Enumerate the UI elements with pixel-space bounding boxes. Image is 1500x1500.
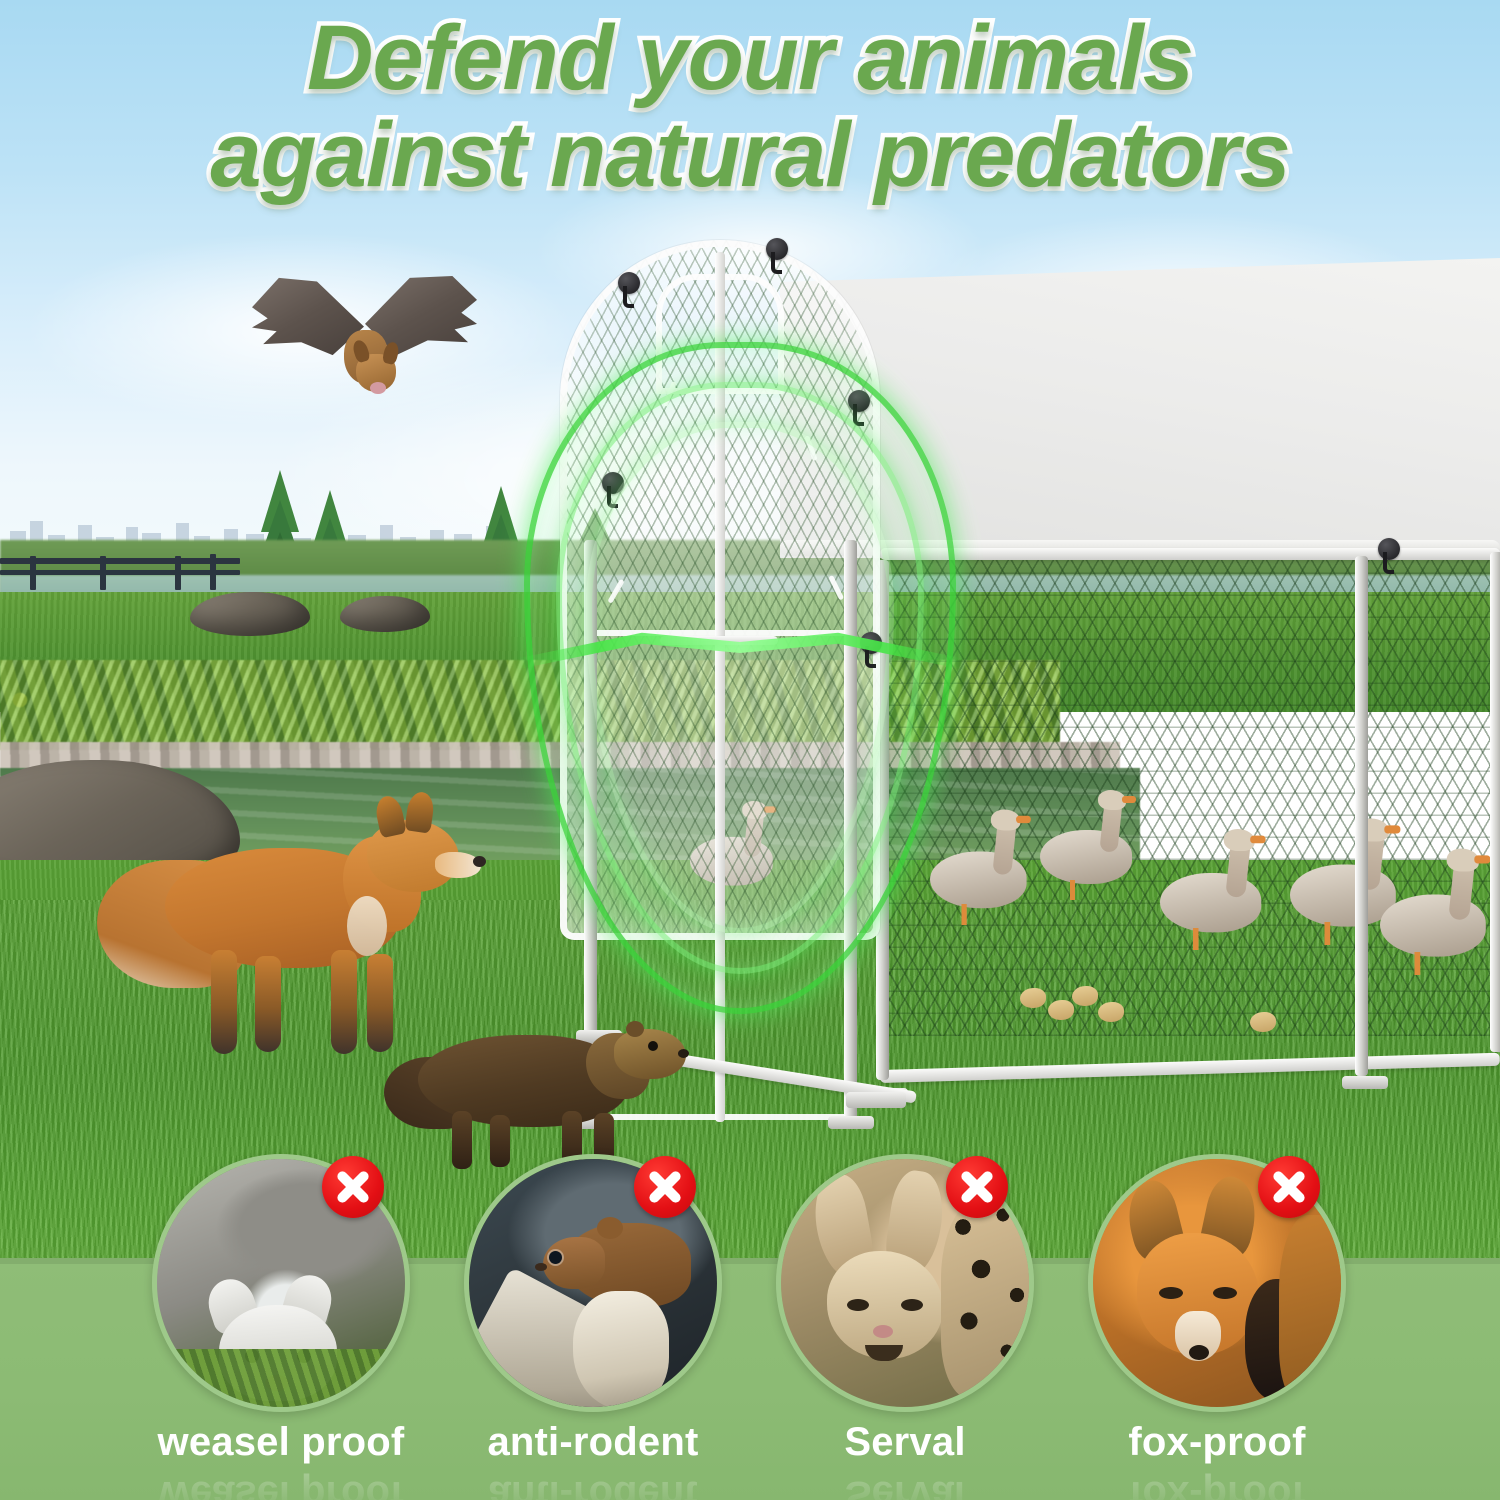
list-item-label: fox-proof — [1067, 1420, 1367, 1465]
chick — [1098, 1002, 1124, 1022]
park-bench — [210, 554, 216, 590]
coop-post — [1355, 556, 1368, 1076]
coop-door-divider — [715, 252, 725, 1122]
list-item-label: Serval — [755, 1420, 1055, 1465]
red-x-icon — [946, 1156, 1008, 1218]
chick — [1048, 1000, 1074, 1020]
fox-leg — [331, 950, 357, 1054]
fox-leg — [255, 956, 281, 1052]
coop-clip — [602, 472, 624, 494]
predator-thumbnail-row — [0, 1140, 1500, 1460]
list-item-label-reflection: anti-rodent — [443, 1472, 743, 1500]
red-x-icon — [634, 1156, 696, 1218]
coop-clip — [618, 272, 640, 294]
coop-door-unit[interactable] — [560, 240, 880, 1120]
park-bench — [30, 556, 36, 590]
park-bench — [100, 556, 106, 590]
boulder — [190, 592, 310, 636]
park-bench — [0, 558, 240, 564]
park-bench — [175, 556, 181, 590]
chick — [1020, 988, 1046, 1008]
coop-post — [1490, 552, 1500, 1052]
product-marketing-image: Defend your animals against natural pred… — [0, 0, 1500, 1500]
marten-head — [614, 1029, 686, 1079]
bat-animal — [252, 258, 477, 428]
list-item-label: anti-rodent — [443, 1420, 743, 1465]
coop-door-post — [844, 540, 857, 1120]
coop-door-handle-bar — [660, 636, 778, 645]
coop-foot — [846, 1092, 906, 1108]
headline-line-2: against natural predators — [0, 107, 1500, 204]
marten-eye — [648, 1041, 658, 1051]
coop-clip — [766, 238, 788, 260]
coop-clip — [848, 390, 870, 412]
list-item-label-reflection: Serval — [755, 1472, 1055, 1500]
park-bench — [0, 570, 240, 575]
list-item-label-reflection: fox-proof — [1067, 1472, 1367, 1500]
coop-top-rail — [880, 548, 1500, 560]
fox-chest — [347, 896, 387, 956]
coop-foot — [828, 1116, 874, 1129]
bat-mouth — [370, 382, 386, 394]
fox-leg — [211, 950, 237, 1054]
coop-tarp-roof — [780, 258, 1500, 558]
coop-clip — [860, 632, 882, 654]
coop-foot — [1342, 1076, 1388, 1089]
chick — [1072, 986, 1098, 1006]
marten-ear — [626, 1021, 644, 1037]
red-x-icon — [322, 1156, 384, 1218]
marten-nose — [678, 1049, 689, 1058]
headline-line-1: Defend your animals — [307, 7, 1193, 109]
red-x-icon — [1258, 1156, 1320, 1218]
chick — [1250, 1012, 1276, 1032]
coop-wire-mesh — [880, 556, 1500, 1036]
page-title: Defend your animals against natural pred… — [0, 10, 1500, 203]
boulder — [340, 596, 430, 632]
fox-nose — [473, 856, 486, 867]
list-item-label-reflection: weasel proof — [131, 1472, 431, 1500]
coop-clip — [1378, 538, 1400, 560]
list-item-label: weasel proof — [131, 1420, 431, 1465]
